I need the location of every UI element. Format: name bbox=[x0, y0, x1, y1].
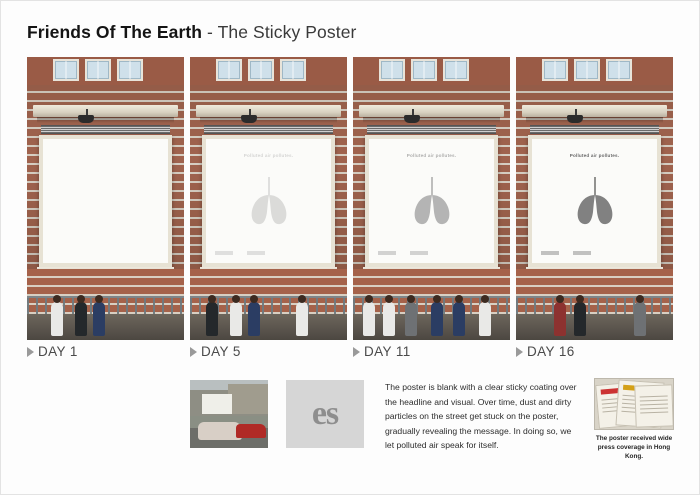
poster-surface bbox=[43, 139, 168, 263]
pedestrian bbox=[230, 302, 242, 336]
window-icon bbox=[53, 59, 79, 81]
day-label-16: DAY 16 bbox=[516, 344, 575, 359]
day-label-11: DAY 11 bbox=[353, 344, 411, 359]
ledge bbox=[33, 105, 178, 117]
day-label-text: DAY 1 bbox=[38, 344, 78, 359]
poster-headline: Polluted air pollutes. bbox=[532, 153, 657, 158]
lungs-illustration bbox=[236, 171, 302, 229]
poster-detail-thumbnail: es bbox=[286, 380, 364, 448]
pedestrian bbox=[574, 302, 586, 336]
ledge-shadow bbox=[526, 117, 663, 123]
upper-wall-band bbox=[190, 57, 347, 85]
photo-panel-day-11: Polluted air pollutes. bbox=[353, 57, 510, 340]
poster-detail-text: es bbox=[312, 395, 338, 433]
upper-wall-band bbox=[516, 57, 673, 85]
photo-panel-day-16: Polluted air pollutes. bbox=[516, 57, 673, 340]
poster-surface: Polluted air pollutes. bbox=[532, 139, 657, 263]
pedestrian bbox=[51, 302, 63, 336]
vent-grill bbox=[530, 125, 659, 134]
window-icon bbox=[379, 59, 405, 81]
ledge-shadow bbox=[37, 117, 174, 123]
day-label-text: DAY 11 bbox=[364, 344, 411, 359]
pedestrian bbox=[453, 302, 465, 336]
campaign-name: The Sticky Poster bbox=[218, 22, 357, 42]
ledge bbox=[196, 105, 341, 117]
photo-panel-day-1 bbox=[27, 57, 184, 340]
lamp-icon bbox=[567, 115, 583, 123]
pedestrian bbox=[405, 302, 417, 336]
lamp-icon bbox=[241, 115, 257, 123]
day-label-text: DAY 16 bbox=[527, 344, 575, 359]
window-icon bbox=[216, 59, 242, 81]
poster-footer bbox=[215, 251, 265, 255]
poster-frame: Polluted air pollutes. bbox=[365, 135, 498, 267]
street-photo-thumbnail bbox=[190, 380, 268, 448]
lamp-icon bbox=[404, 115, 420, 123]
day-label-1: DAY 1 bbox=[27, 344, 78, 359]
pedestrian bbox=[363, 302, 375, 336]
brand-name: Friends Of The Earth bbox=[27, 22, 202, 42]
window-icon bbox=[443, 59, 469, 81]
lungs-illustration bbox=[399, 171, 465, 229]
pedestrian bbox=[206, 302, 218, 336]
window-icon bbox=[85, 59, 111, 81]
pedestrian bbox=[554, 302, 566, 336]
triangle-right-icon bbox=[353, 347, 360, 357]
window-icon bbox=[248, 59, 274, 81]
poster-frame bbox=[39, 135, 172, 267]
window-icon bbox=[280, 59, 306, 81]
window-icon bbox=[542, 59, 568, 81]
window-icon bbox=[117, 59, 143, 81]
ledge bbox=[359, 105, 504, 117]
press-clipping bbox=[634, 384, 673, 427]
press-coverage-block: The poster received wide press coverage … bbox=[594, 378, 674, 461]
poster-footer bbox=[541, 251, 591, 255]
vent-grill bbox=[367, 125, 496, 134]
day-label-row: DAY 1 DAY 5 DAY 11 DAY 16 bbox=[27, 344, 673, 366]
street-ground bbox=[516, 314, 673, 340]
day-label-text: DAY 5 bbox=[201, 344, 241, 359]
poster-surface: Polluted air pollutes. bbox=[369, 139, 494, 263]
pedestrian bbox=[296, 302, 308, 336]
pedestrian bbox=[431, 302, 443, 336]
ledge-shadow bbox=[363, 117, 500, 123]
window-icon bbox=[606, 59, 632, 81]
upper-wall-band bbox=[353, 57, 510, 85]
press-caption: The poster received wide press coverage … bbox=[594, 434, 674, 461]
poster-case-study-page: Friends Of The Earth - The Sticky Poster bbox=[0, 0, 700, 495]
poster-footer bbox=[378, 251, 428, 255]
window-icon bbox=[411, 59, 437, 81]
poster-headline: Polluted air pollutes. bbox=[369, 153, 494, 158]
title-separator: - bbox=[202, 22, 218, 42]
triangle-right-icon bbox=[27, 347, 34, 357]
ledge-shadow bbox=[200, 117, 337, 123]
pedestrian bbox=[75, 302, 87, 336]
bottom-section: es The poster is blank with a clear stic… bbox=[190, 380, 675, 472]
triangle-right-icon bbox=[516, 347, 523, 357]
photo-strip: Polluted air pollutes. bbox=[27, 57, 673, 340]
body-copy-text: The poster is blank with a clear sticky … bbox=[385, 380, 578, 453]
lungs-illustration bbox=[562, 171, 628, 229]
pedestrian bbox=[248, 302, 260, 336]
poster-headline: Polluted air pollutes. bbox=[206, 153, 331, 158]
press-clippings-image bbox=[594, 378, 674, 430]
page-title: Friends Of The Earth - The Sticky Poster bbox=[27, 22, 356, 43]
vent-grill bbox=[204, 125, 333, 134]
lamp-icon bbox=[78, 115, 94, 123]
upper-wall-band bbox=[27, 57, 184, 85]
pedestrian bbox=[479, 302, 491, 336]
ledge bbox=[522, 105, 667, 117]
poster-frame: Polluted air pollutes. bbox=[528, 135, 661, 267]
body-copy: The poster is blank with a clear sticky … bbox=[385, 380, 578, 453]
pedestrian bbox=[383, 302, 395, 336]
day-label-5: DAY 5 bbox=[190, 344, 241, 359]
vent-grill bbox=[41, 125, 170, 134]
photo-panel-day-5: Polluted air pollutes. bbox=[190, 57, 347, 340]
triangle-right-icon bbox=[190, 347, 197, 357]
pedestrian bbox=[93, 302, 105, 336]
pedestrian bbox=[634, 302, 646, 336]
window-icon bbox=[574, 59, 600, 81]
poster-frame: Polluted air pollutes. bbox=[202, 135, 335, 267]
poster-surface: Polluted air pollutes. bbox=[206, 139, 331, 263]
